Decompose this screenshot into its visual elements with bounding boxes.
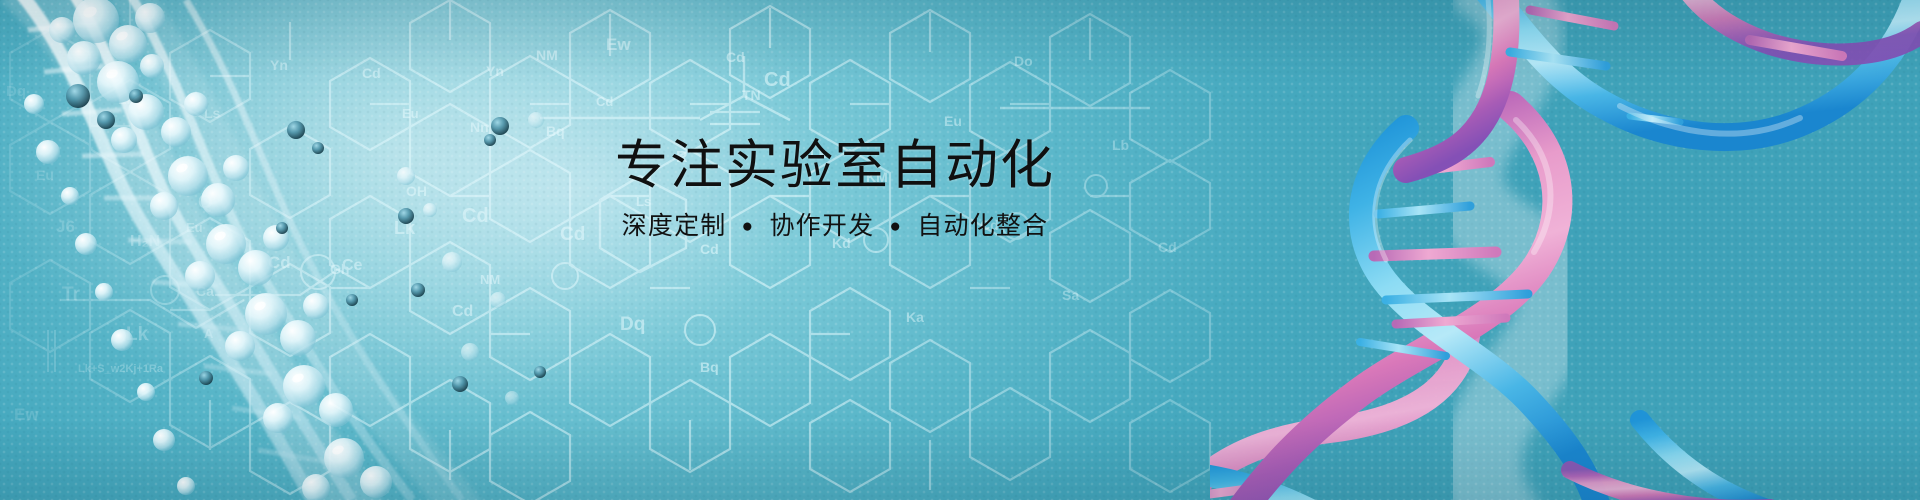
bullet-separator-icon: ●	[886, 216, 905, 237]
subtitle-segment-2: 协作开发	[765, 212, 878, 240]
hero-text-block: 专注实验室自动化 深度定制 ● 协作开发 ● 自动化整合	[600, 138, 1070, 241]
subtitle-segment-3: 自动化整合	[913, 212, 1052, 240]
hero-subtitle: 深度定制 ● 协作开发 ● 自动化整合	[600, 211, 1070, 241]
banner-vignette	[0, 0, 1920, 500]
lab-automation-hero-banner: J6 H₂N Tr Lk Ca Q Eu Ls Lk Yn Ce Cd A Lk…	[0, 0, 1920, 500]
bullet-separator-icon: ●	[739, 216, 758, 237]
subtitle-segment-1: 深度定制	[618, 212, 731, 240]
page-title: 专注实验室自动化	[600, 138, 1070, 194]
